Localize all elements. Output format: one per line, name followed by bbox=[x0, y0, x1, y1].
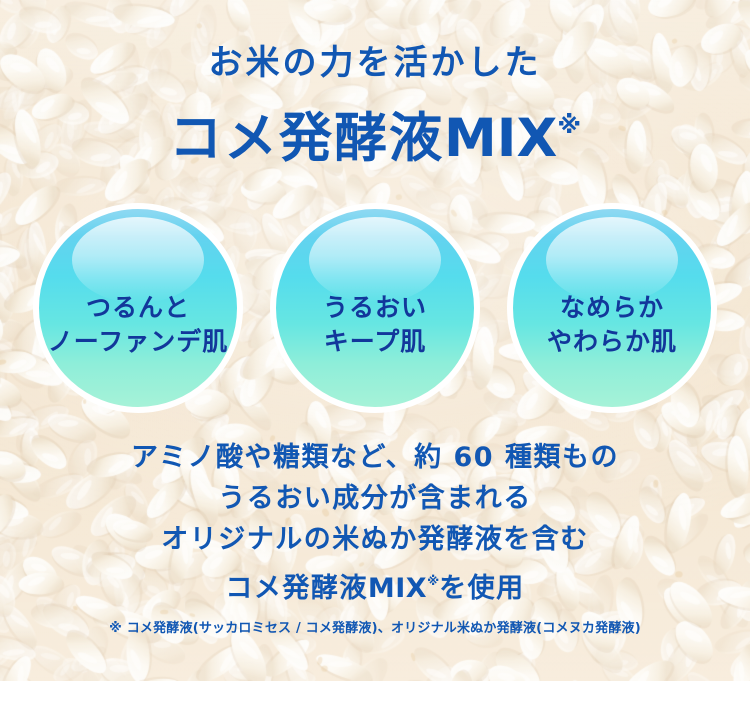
benefit-badge-3: なめらか やわらか肌 bbox=[507, 203, 717, 413]
headline-reference-mark: ※ bbox=[557, 110, 581, 139]
body-copy-line-3: オリジナルの米ぬか発酵液を含む bbox=[0, 519, 750, 560]
benefit-badges: つるんと ノーファンデ肌 うるおい キープ肌 なめらか やわらか肌 bbox=[0, 203, 750, 403]
banner-content: お米の力を活かした コメ発酵液MIX※ つるんと ノーファンデ肌 うるおい キー… bbox=[0, 0, 750, 708]
benefit-badge-3-line2: やわらか肌 bbox=[547, 325, 677, 359]
benefit-badge-3-label: なめらか やわらか肌 bbox=[547, 291, 677, 359]
promo-banner: お米の力を活かした コメ発酵液MIX※ つるんと ノーファンデ肌 うるおい キー… bbox=[0, 0, 750, 708]
body-copy-reference-mark: ※ bbox=[427, 573, 439, 588]
benefit-badge-1-label: つるんと ノーファンデ肌 bbox=[48, 291, 229, 359]
benefit-badge-1-line2: ノーファンデ肌 bbox=[48, 325, 229, 359]
benefit-badge-2-line1: うるおい bbox=[323, 291, 427, 325]
headline-title-latin: MIX bbox=[444, 108, 557, 169]
benefit-badge-1: つるんと ノーファンデ肌 bbox=[33, 203, 243, 413]
headline-title-jp: コメ発酵液 bbox=[169, 108, 444, 169]
benefit-badge-2: うるおい キープ肌 bbox=[270, 203, 480, 413]
benefit-badge-3-line1: なめらか bbox=[547, 291, 677, 325]
headline-block: お米の力を活かした コメ発酵液MIX※ bbox=[0, 40, 750, 170]
benefit-badge-1-line1: つるんと bbox=[48, 291, 229, 325]
benefit-badge-2-label: うるおい キープ肌 bbox=[323, 291, 427, 359]
footnote-text: ※ コメ発酵液(サッカロミセス / コメ発酵液)、オリジナル米ぬか発酵液(コメヌ… bbox=[0, 620, 750, 638]
body-copy-line-4-pre: コメ発酵液 bbox=[225, 573, 368, 604]
body-copy-line-4-latin: MIX bbox=[368, 573, 427, 604]
body-copy-line-4: コメ発酵液MIX※を使用 bbox=[0, 560, 750, 609]
benefit-badge-2-line2: キープ肌 bbox=[323, 325, 427, 359]
body-copy-line-1: アミノ酸や糖類など、約 60 種類もの bbox=[0, 437, 750, 478]
body-copy-line-2: うるおい成分が含まれる bbox=[0, 478, 750, 519]
headline-subtitle: お米の力を活かした bbox=[0, 40, 750, 86]
body-copy: アミノ酸や糖類など、約 60 種類もの うるおい成分が含まれる オリジナルの米ぬ… bbox=[0, 437, 750, 609]
body-copy-line-4-post: を使用 bbox=[439, 573, 525, 604]
headline-title: コメ発酵液MIX※ bbox=[0, 94, 750, 170]
